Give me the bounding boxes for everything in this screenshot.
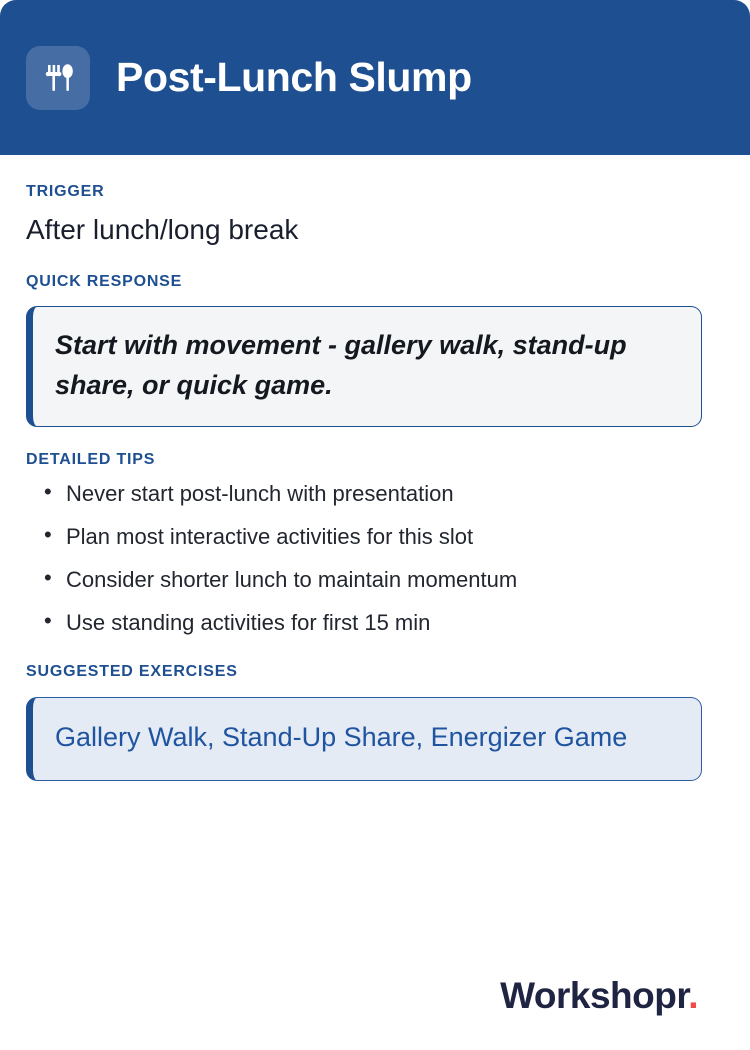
page-title: Post-Lunch Slump (116, 57, 472, 98)
quick-response-text: Start with movement - gallery walk, stan… (55, 325, 679, 406)
list-item: Use standing activities for first 15 min (26, 612, 724, 634)
brand-dot: . (688, 975, 698, 1016)
quick-response-callout: Start with movement - gallery walk, stan… (26, 306, 702, 427)
suggested-exercises-label: SUGGESTED EXERCISES (26, 661, 724, 683)
card-header: Post-Lunch Slump (0, 0, 750, 155)
list-item: Never start post-lunch with presentation (26, 483, 724, 505)
list-item: Plan most interactive activities for thi… (26, 526, 724, 548)
list-item: Consider shorter lunch to maintain momen… (26, 569, 724, 591)
brand-name: Workshopr (500, 975, 688, 1016)
trigger-text: After lunch/long break (26, 211, 724, 249)
card-body: TRIGGER After lunch/long break QUICK RES… (0, 155, 750, 1050)
card-container: Post-Lunch Slump TRIGGER After lunch/lon… (0, 0, 750, 1050)
detailed-tips-label: DETAILED TIPS (26, 449, 724, 471)
suggested-exercises-callout: Gallery Walk, Stand-Up Share, Energizer … (26, 697, 702, 780)
fork-and-spoon-icon (26, 46, 90, 110)
quick-response-label: QUICK RESPONSE (26, 271, 724, 293)
trigger-label: TRIGGER (26, 181, 724, 203)
detailed-tips-list: Never start post-lunch with presentation… (26, 483, 724, 655)
suggested-exercises-text: Gallery Walk, Stand-Up Share, Energizer … (55, 718, 679, 757)
workshopr-logo: Workshopr. (500, 977, 698, 1014)
card-footer: Workshopr. (26, 781, 724, 1050)
